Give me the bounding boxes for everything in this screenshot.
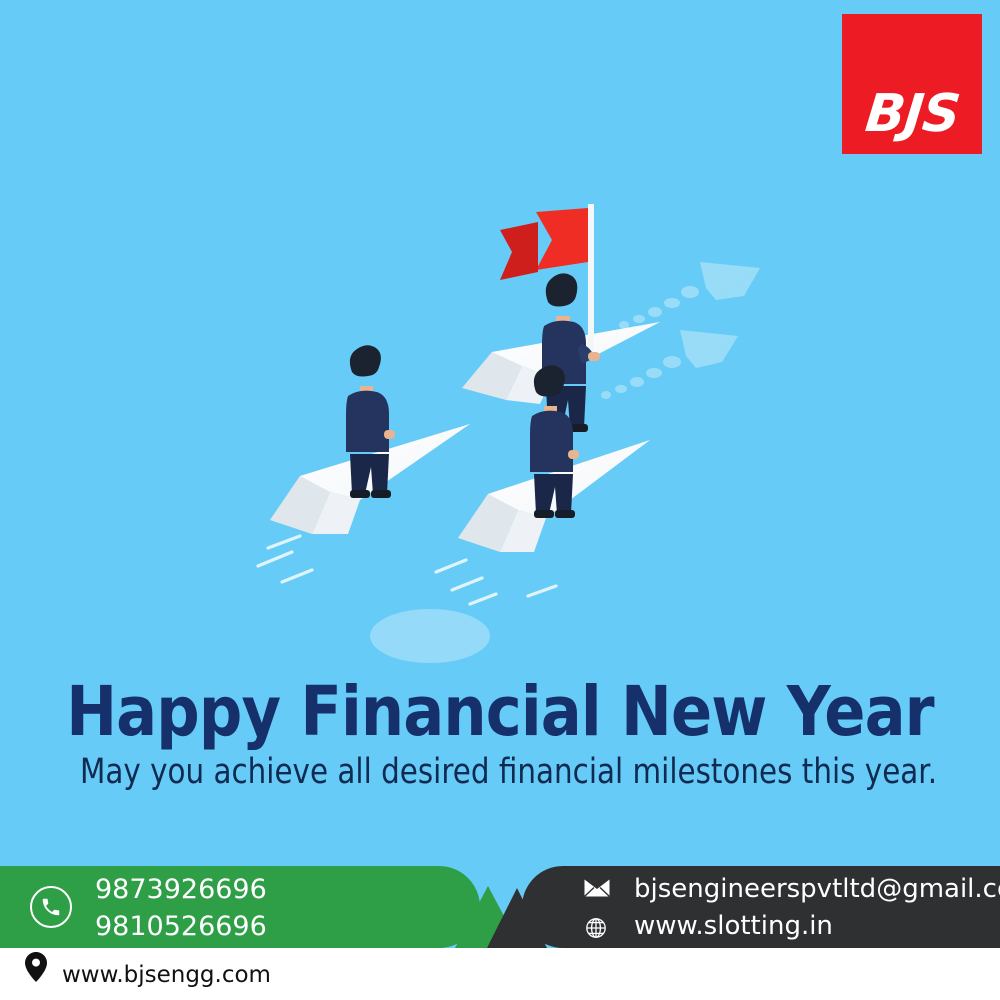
phone-numbers[interactable]: 9873926696 9810526696 xyxy=(95,871,267,945)
ground-shadow xyxy=(370,609,490,663)
poster-canvas: BJS Happy Financial New Year May you ach… xyxy=(0,0,1000,1000)
phone-number-2[interactable]: 9810526696 xyxy=(95,908,267,945)
location-pin-icon xyxy=(24,952,48,987)
envelope-icon xyxy=(584,879,610,902)
email-address[interactable]: bjsengineerspvtltd@gmail.com xyxy=(634,871,1000,908)
globe-icon xyxy=(584,916,608,945)
website-bjsengg[interactable]: www.bjsengg.com xyxy=(62,962,271,988)
phone-number-1[interactable]: 9873926696 xyxy=(95,871,267,908)
page-title: Happy Financial New Year xyxy=(60,672,940,752)
website-slotting[interactable]: www.slotting.in xyxy=(634,908,1000,945)
contact-details[interactable]: bjsengineerspvtltd@gmail.com www.slottin… xyxy=(634,871,1000,945)
page-subtitle: May you achieve all desired financial mi… xyxy=(80,752,920,792)
phone-icon xyxy=(30,886,72,928)
bjs-logo: BJS xyxy=(842,14,982,154)
logo-text: BJS xyxy=(862,88,962,154)
